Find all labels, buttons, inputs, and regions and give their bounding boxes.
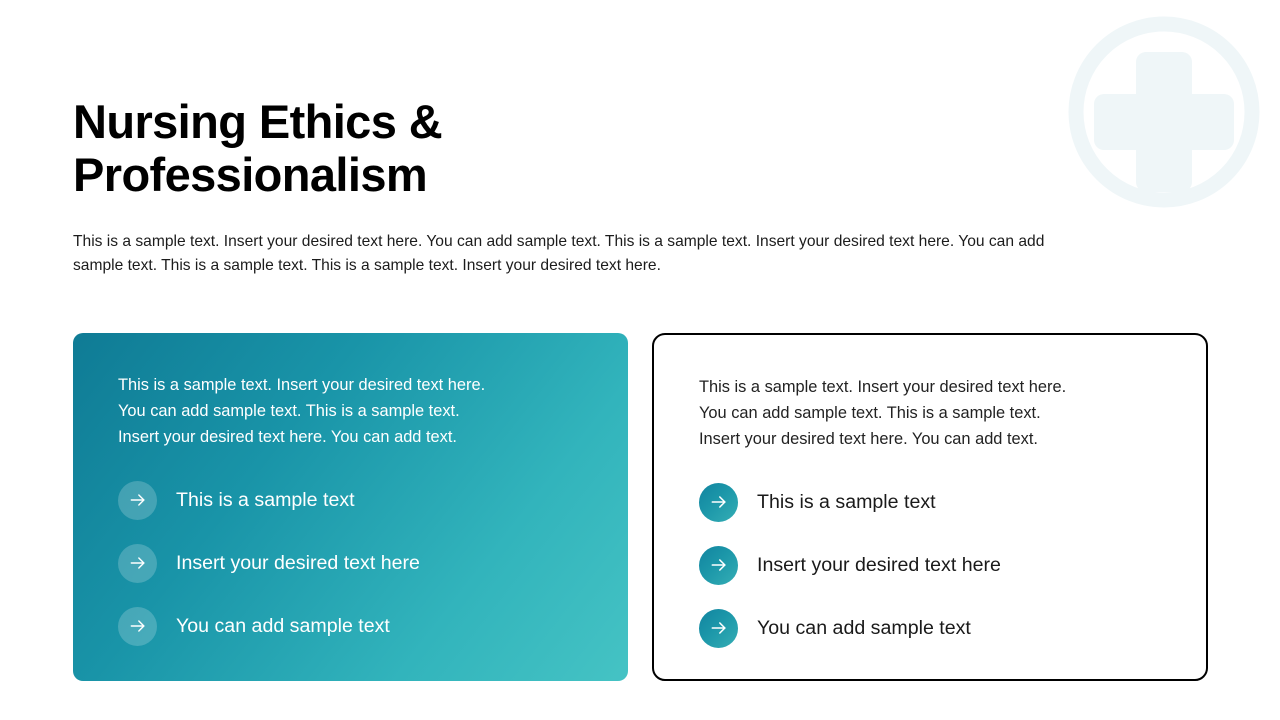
list-item-label: This is a sample text <box>757 491 936 515</box>
medical-cross-circle-icon <box>1066 14 1262 210</box>
list-item[interactable]: This is a sample text <box>699 483 1172 522</box>
list-item-label: You can add sample text <box>176 615 390 639</box>
card-body-text: This is a sample text. Insert your desir… <box>699 375 1172 453</box>
list-item-label: This is a sample text <box>176 489 355 513</box>
arrow-right-icon <box>699 546 738 585</box>
arrow-right-icon <box>699 483 738 522</box>
arrow-right-icon <box>118 481 157 520</box>
left-teal-card: This is a sample text. Insert your desir… <box>73 333 628 681</box>
card-list: This is a sample text Insert your desire… <box>699 483 1172 648</box>
list-item[interactable]: Insert your desired text here <box>699 546 1172 585</box>
arrow-right-icon <box>118 607 157 646</box>
list-item-label: Insert your desired text here <box>757 554 1001 578</box>
card-body-text: This is a sample text. Insert your desir… <box>118 373 594 451</box>
page-subtitle: This is a sample text. Insert your desir… <box>73 230 1048 277</box>
list-item[interactable]: You can add sample text <box>118 607 594 646</box>
list-item[interactable]: Insert your desired text here <box>118 544 594 583</box>
card-list: This is a sample text Insert your desire… <box>118 481 594 646</box>
arrow-right-icon <box>118 544 157 583</box>
right-outline-card: This is a sample text. Insert your desir… <box>652 333 1208 681</box>
arrow-right-icon <box>699 609 738 648</box>
page-title: Nursing Ethics & Professionalism <box>73 95 773 201</box>
list-item[interactable]: You can add sample text <box>699 609 1172 648</box>
list-item[interactable]: This is a sample text <box>118 481 594 520</box>
list-item-label: You can add sample text <box>757 617 971 641</box>
list-item-label: Insert your desired text here <box>176 552 420 576</box>
